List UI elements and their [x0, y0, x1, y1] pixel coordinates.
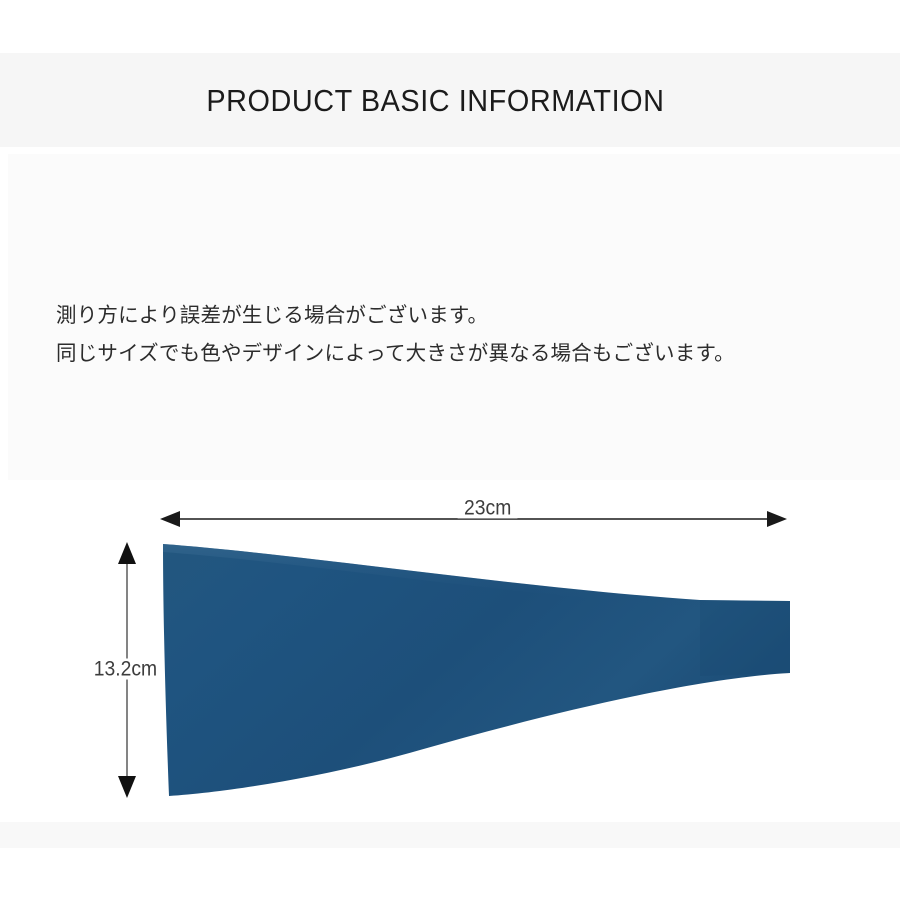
height-arrowhead-top: [118, 542, 136, 564]
note-line-size-variance: 同じサイズでも色やデザインによって大きさが異なる場合もございます。: [56, 334, 856, 372]
width-arrowhead-left: [160, 511, 180, 527]
header-band: PRODUCT BASIC INFORMATION: [0, 53, 900, 147]
product-info-page: PRODUCT BASIC INFORMATION 測り方により誤差が生じる場合…: [0, 0, 900, 900]
notes-text-block: 測り方により誤差が生じる場合がございます。 同じサイズでも色やデザインによって大…: [56, 296, 856, 372]
product-right-fold-shadow: [700, 600, 790, 676]
height-arrowhead-bottom: [118, 776, 136, 798]
note-line-measurement-variance: 測り方により誤差が生じる場合がございます。: [56, 296, 856, 334]
page-title: PRODUCT BASIC INFORMATION: [206, 85, 664, 116]
notes-panel: 測り方により誤差が生じる場合がございます。 同じサイズでも色やデザインによって大…: [8, 154, 900, 480]
height-dimension-label: 13.2cm: [87, 659, 163, 680]
product-shape: [163, 544, 790, 796]
footer-band: [0, 822, 900, 848]
width-arrowhead-right: [767, 511, 787, 527]
width-dimension-label: 23cm: [458, 498, 518, 519]
